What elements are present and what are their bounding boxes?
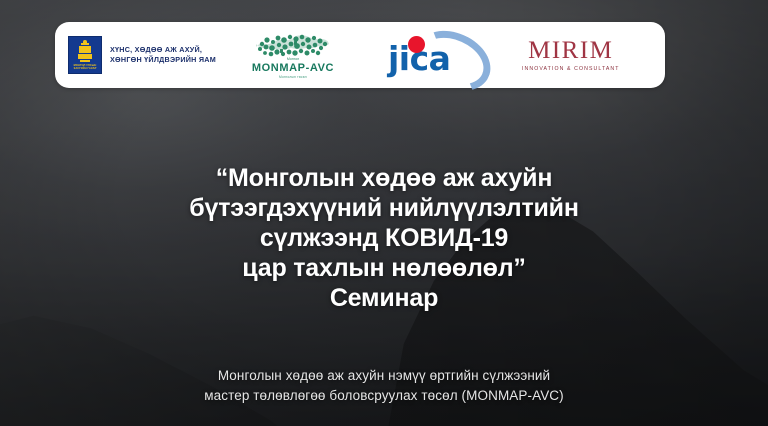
subtitle-line-1: Монголын хөдөө аж ахуйн нэмүү өртгийн сү… bbox=[0, 366, 768, 386]
project-subtitle: Монголын хөдөө аж ахуйн нэмүү өртгийн сү… bbox=[0, 366, 768, 406]
mongolia-map-icon: Монгол bbox=[250, 31, 336, 61]
ministry-name-line-1: ХҮНС, ХӨДӨӨ АЖ АХУЙ, bbox=[110, 45, 216, 55]
svg-text:Монгол: Монгол bbox=[287, 57, 299, 61]
seminar-title: “Монголын хөдөө аж ахуйн бүтээгдэхүүний … bbox=[0, 163, 768, 313]
title-line-4: цар тахлын нөлөөлөл” bbox=[0, 253, 768, 283]
monmap-subtext: Монголын төсөл bbox=[279, 75, 307, 79]
title-line-1: “Монголын хөдөө аж ахуйн bbox=[0, 163, 768, 193]
ministry-name-line-2: ХӨНГӨН ҮЙЛДВЭРИЙН ЯАМ bbox=[110, 55, 216, 65]
mirim-subtext: INNOVATION & CONSULTANT bbox=[522, 66, 620, 72]
title-line-2: бүтээгдэхүүний нийлүүлэлтийн bbox=[0, 193, 768, 223]
jica-red-dot-icon bbox=[408, 36, 425, 53]
ministry-emblem-icon: МОНГОЛ УЛСЫН ЗАСГИЙН ГАЗАР bbox=[68, 36, 102, 74]
logo-monmap-avc: Монгол MONMAP-AVC Монголын төсөл bbox=[250, 22, 336, 88]
logo-jica: jica bbox=[380, 22, 492, 88]
mirim-wordmark: MIRIM bbox=[528, 38, 613, 64]
ministry-name: ХҮНС, ХӨДӨӨ АЖ АХУЙ, ХӨНГӨН ҮЙЛДВЭРИЙН Я… bbox=[110, 45, 216, 65]
logo-bar: МОНГОЛ УЛСЫН ЗАСГИЙН ГАЗАР ХҮНС, ХӨДӨӨ А… bbox=[55, 22, 665, 88]
logo-ministry: МОНГОЛ УЛСЫН ЗАСГИЙН ГАЗАР ХҮНС, ХӨДӨӨ А… bbox=[55, 22, 216, 88]
seminar-title-slide: МОНГОЛ УЛСЫН ЗАСГИЙН ГАЗАР ХҮНС, ХӨДӨӨ А… bbox=[0, 0, 768, 426]
jica-mark-icon: jica bbox=[380, 31, 492, 79]
monmap-wordmark: MONMAP-AVC bbox=[252, 62, 334, 74]
title-line-5: Семинар bbox=[0, 283, 768, 313]
title-line-3: сүлжээнд КОВИД-19 bbox=[0, 223, 768, 253]
soyombo-glyph-icon bbox=[78, 40, 92, 62]
subtitle-line-2: мастер төлөвлөгөө боловсруулах төсөл (MO… bbox=[0, 386, 768, 406]
ministry-emblem-caption: МОНГОЛ УЛСЫН ЗАСГИЙН ГАЗАР bbox=[69, 64, 101, 71]
logo-mirim: MIRIM INNOVATION & CONSULTANT bbox=[522, 22, 634, 88]
